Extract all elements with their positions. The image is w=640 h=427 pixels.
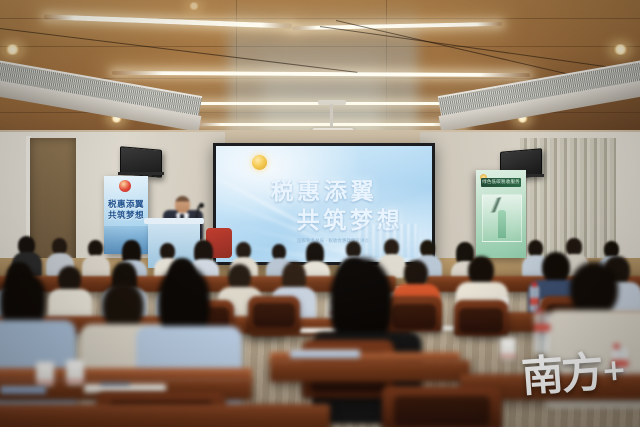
conference-room-photo: 税惠添翼 共筑梦想 国家税务总局 · 税收优惠政策宣讲会 税惠添翼 共筑梦想 绿…: [0, 0, 640, 427]
handout-document: [0, 386, 46, 394]
national-emblem-icon: [119, 180, 131, 192]
podium-top: [144, 218, 204, 224]
paper-cup: [66, 360, 84, 385]
paper-cup: [500, 338, 516, 360]
led-strip-4: [188, 123, 466, 126]
rollup-banner-right: 绿色低碳税收服务: [476, 170, 526, 258]
watermark-text: 南方: [520, 347, 603, 401]
chair: [382, 386, 502, 427]
downlight-1: [4, 44, 21, 55]
chair: [386, 296, 442, 332]
banner-left-line2: 共筑梦想: [104, 209, 148, 221]
watermark-plus: +: [600, 352, 626, 389]
speaker-bracket-left: [118, 172, 164, 175]
projector-pole: [330, 104, 333, 130]
tax-bureau-emblem-icon: [252, 155, 267, 170]
chair: [248, 296, 300, 330]
downlight-5: [612, 44, 629, 55]
handout-document: [290, 350, 360, 358]
banner-right-header-text: 绿色低碳税收服务: [476, 179, 526, 185]
chair: [454, 300, 508, 336]
pen: [100, 383, 130, 385]
downlight-9: [188, 2, 200, 10]
desk-row-foreground: [0, 404, 330, 427]
watermark-nanfang-plus: 南方+: [520, 348, 628, 411]
paper-cup: [36, 362, 54, 386]
desk-row-near-center: [270, 360, 470, 382]
banner-right-tower-graphic: [498, 210, 506, 238]
water-bottle: [534, 312, 550, 354]
presenter-head: [175, 196, 190, 213]
microphone-icon: [199, 203, 204, 208]
